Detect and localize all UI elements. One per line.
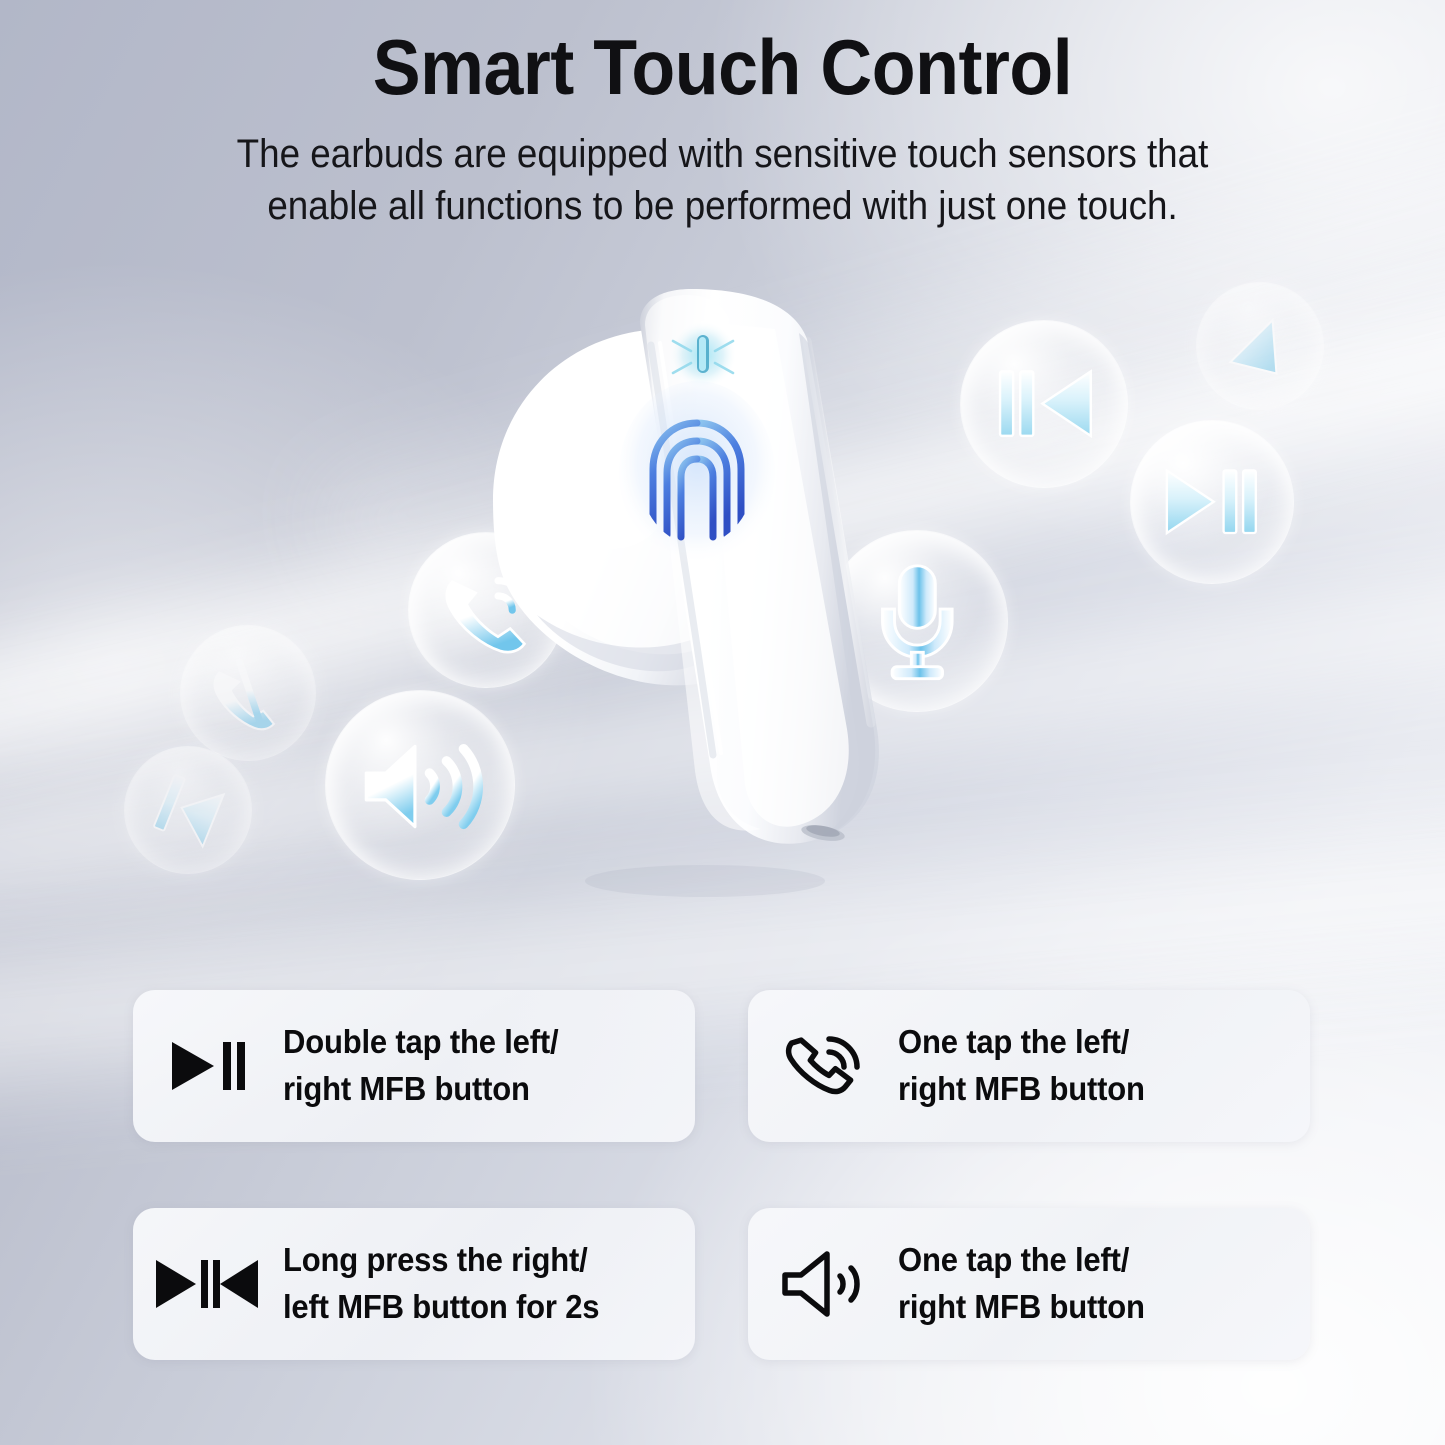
card-label: One tap the left/ right MFB button: [898, 1237, 1145, 1331]
card-line-1: Long press the right/: [283, 1237, 599, 1284]
play-pause-icon: [133, 1038, 283, 1094]
next-previous-track-icon: [133, 1256, 283, 1312]
card-line-1: One tap the left/: [898, 1019, 1145, 1066]
feature-card-grid: Double tap the left/ right MFB button On…: [0, 0, 1445, 1445]
card-label: One tap the left/ right MFB button: [898, 1019, 1145, 1113]
card-line-2: right MFB button: [898, 1284, 1145, 1331]
volume-up-icon: [748, 1248, 898, 1320]
card-play-pause[interactable]: Double tap the left/ right MFB button: [133, 990, 695, 1142]
card-line-2: right MFB button: [898, 1066, 1145, 1113]
answer-call-icon: [748, 1026, 898, 1106]
card-label: Long press the right/ left MFB button fo…: [283, 1237, 599, 1331]
card-answer-call[interactable]: One tap the left/ right MFB button: [748, 990, 1310, 1142]
card-line-1: Double tap the left/: [283, 1019, 558, 1066]
card-line-1: One tap the left/: [898, 1237, 1145, 1284]
card-volume[interactable]: One tap the left/ right MFB button: [748, 1208, 1310, 1360]
card-line-2: left MFB button for 2s: [283, 1284, 599, 1331]
card-label: Double tap the left/ right MFB button: [283, 1019, 558, 1113]
card-line-2: right MFB button: [283, 1066, 558, 1113]
card-track-skip[interactable]: Long press the right/ left MFB button fo…: [133, 1208, 695, 1360]
product-feature-banner: Smart Touch Control The earbuds are equi…: [0, 0, 1445, 1445]
